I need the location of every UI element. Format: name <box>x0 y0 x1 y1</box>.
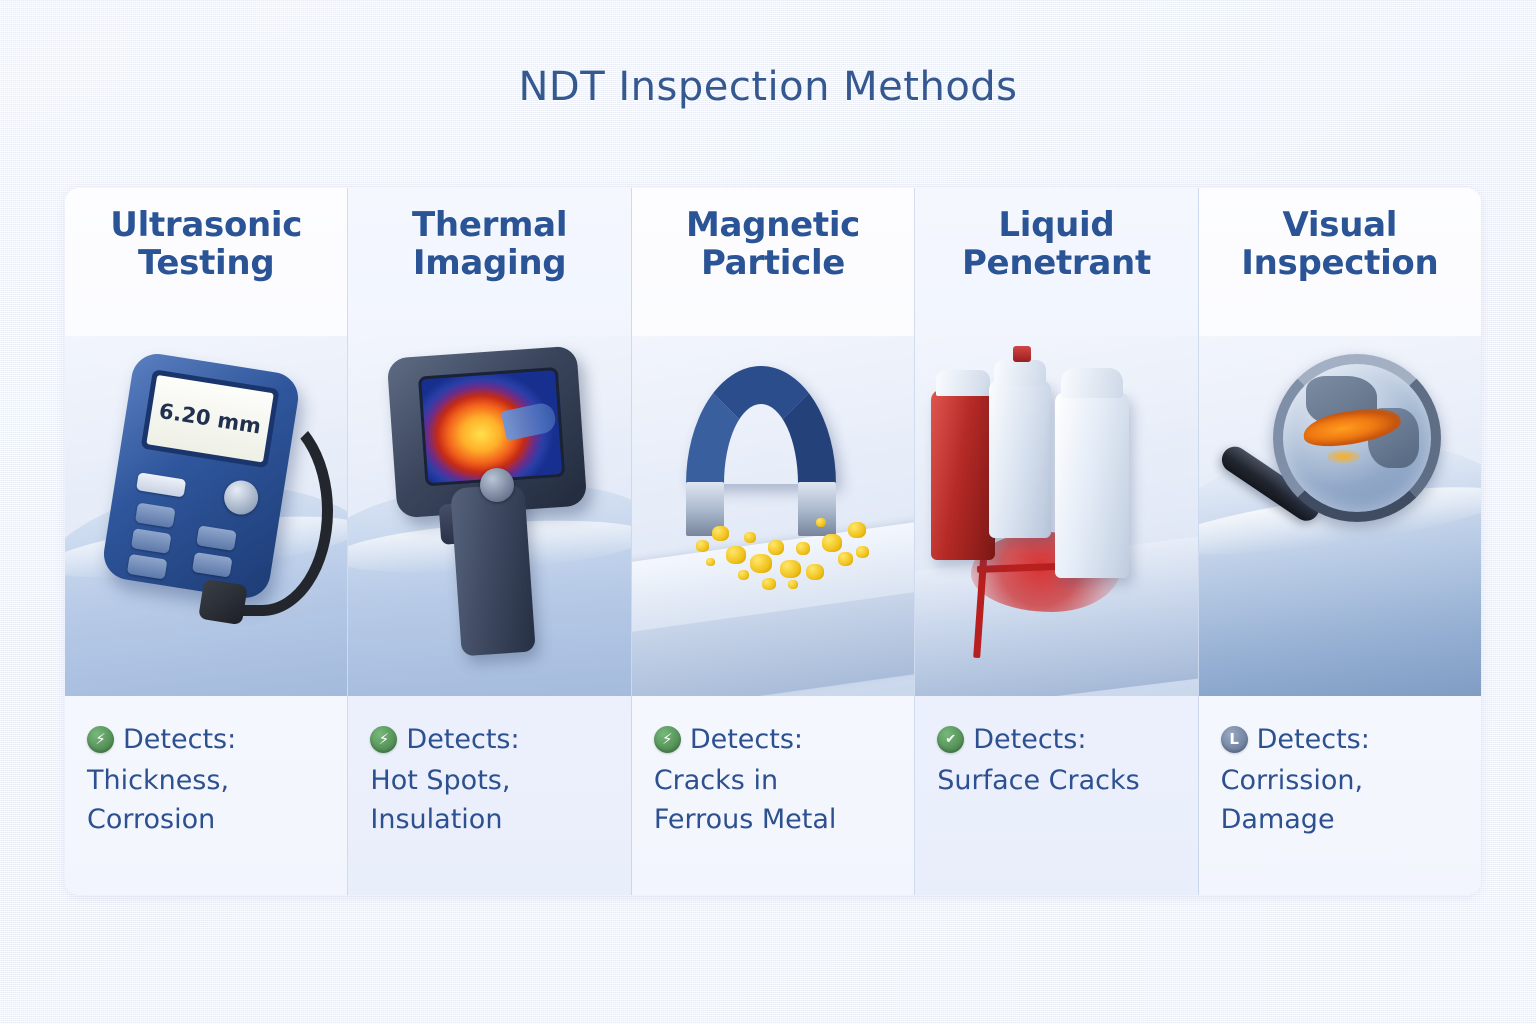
lens-badge-icon: L <box>1221 726 1248 753</box>
detects-header: ⚡ Detects: <box>654 720 896 759</box>
illustration-liquid-penetrant <box>915 336 1197 696</box>
magnetic-particles-cluster <box>692 512 882 604</box>
illustration-ultrasonic-thickness-gauge: 6.20 mm <box>65 336 347 696</box>
bolt-badge-icon: ⚡ <box>654 726 681 753</box>
illustration-magnetic-particle <box>632 336 914 696</box>
detects-value: Thickness, Corrosion <box>87 761 329 839</box>
detects-header: ✔ Detects: <box>937 720 1179 759</box>
methods-board: Ultrasonic Testing 6.20 mm ⚡ Detects <box>65 188 1481 895</box>
detects-value: Corrission, Damage <box>1221 761 1463 839</box>
bolt-badge-icon: ⚡ <box>87 726 114 753</box>
horseshoe-magnet <box>686 366 836 484</box>
method-card-visual-inspection[interactable]: Visual Inspection L Detects: Corrission,… <box>1199 188 1481 895</box>
detects-label: Detects: <box>123 720 236 759</box>
camera-handle <box>451 484 537 657</box>
method-heading: Magnetic Particle <box>632 188 914 336</box>
detects-label: Detects: <box>690 720 803 759</box>
method-caption: ⚡ Detects: Hot Spots, Insulation <box>348 696 630 895</box>
page-title: NDT Inspection Methods <box>0 64 1536 110</box>
method-card-liquid-penetrant[interactable]: Liquid Penetrant ✔ Detects: Surface Crac… <box>915 188 1198 895</box>
magnifier-lens <box>1273 354 1441 522</box>
detects-header: ⚡ Detects: <box>87 720 329 759</box>
illustration-visual-inspection <box>1199 336 1481 696</box>
can-cap-white-1 <box>994 360 1046 386</box>
detects-label: Detects: <box>973 720 1086 759</box>
method-caption: ⚡ Detects: Cracks in Ferrous Metal <box>632 696 914 895</box>
penetrant-can-white-2 <box>1055 392 1129 578</box>
penetrant-can-red <box>931 390 995 560</box>
method-card-thermal-imaging[interactable]: Thermal Imaging ⚡ Detects: Hot Spots, In… <box>348 188 631 895</box>
method-heading: Visual Inspection <box>1199 188 1481 336</box>
detects-label: Detects: <box>406 720 519 759</box>
rust-speck <box>1327 450 1360 463</box>
penetrant-can-white-1 <box>989 380 1051 538</box>
illustration-thermal-camera <box>348 336 630 696</box>
detects-value: Surface Cracks <box>937 761 1179 800</box>
gauge-probe <box>198 579 248 625</box>
method-heading: Liquid Penetrant <box>915 188 1197 336</box>
check-badge-icon: ✔ <box>937 726 964 753</box>
method-card-magnetic-particle[interactable]: Magnetic Particle <box>632 188 915 895</box>
detects-header: ⚡ Detects: <box>370 720 612 759</box>
can-cap-red <box>936 370 990 396</box>
can-nozzle <box>1013 346 1031 362</box>
method-card-ultrasonic-testing[interactable]: Ultrasonic Testing 6.20 mm ⚡ Detects <box>65 188 348 895</box>
gauge-button-3 <box>127 554 168 580</box>
detects-header: L Detects: <box>1221 720 1463 759</box>
method-caption: ✔ Detects: Surface Cracks <box>915 696 1197 895</box>
method-caption: L Detects: Corrission, Damage <box>1199 696 1481 895</box>
detects-value: Cracks in Ferrous Metal <box>654 761 896 839</box>
detects-label: Detects: <box>1257 720 1370 759</box>
gauge-button-2 <box>131 528 172 554</box>
detects-value: Hot Spots, Insulation <box>370 761 612 839</box>
method-caption: ⚡ Detects: Thickness, Corrosion <box>65 696 347 895</box>
gauge-button-wide <box>136 472 186 497</box>
method-heading: Thermal Imaging <box>348 188 630 336</box>
gauge-button-1 <box>135 502 176 528</box>
can-cap-white-2 <box>1061 368 1123 398</box>
bolt-badge-icon: ⚡ <box>370 726 397 753</box>
method-heading: Ultrasonic Testing <box>65 188 347 336</box>
